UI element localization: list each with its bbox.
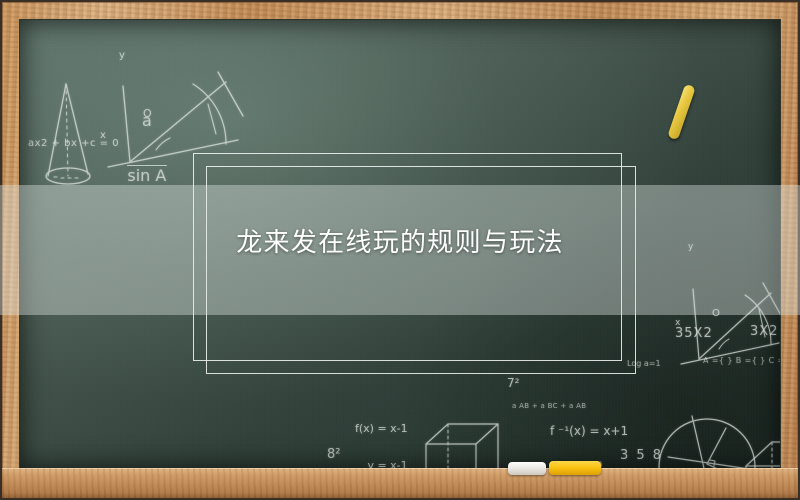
angle-label-o-topleft: O bbox=[143, 108, 152, 120]
white-chalk-icon bbox=[508, 462, 546, 475]
addition-problem-block: 3 5 8 2 7 9 6 3 7 bbox=[620, 420, 663, 468]
inverse-function-text: f ⁻¹(x) = x+1 bbox=[550, 425, 628, 438]
multiplication-3x2-text: 3X2 bbox=[750, 325, 778, 340]
axis-label-y-topleft: y bbox=[119, 50, 125, 61]
set-notation-text: A ={ } B ={ } C ={ } bbox=[703, 357, 780, 366]
cube-drawing-right-icon bbox=[738, 398, 780, 468]
function-equation-line1: f(x) = x-1 bbox=[355, 423, 408, 435]
yellow-chalk-icon bbox=[549, 461, 601, 475]
angle-label-o-right: O bbox=[712, 308, 720, 319]
axis-label-x-topleft: x bbox=[100, 130, 106, 141]
ledge-grain-texture bbox=[2, 468, 798, 498]
power-eight-squared-text: 8² bbox=[327, 448, 340, 463]
power-seven-squared-text: 7² bbox=[507, 377, 519, 390]
screenshot-root: a sin A ax2 + bx +c = 0 y x O bbox=[0, 0, 800, 500]
fraction-a-over-sina-bottomleft: a sin A bbox=[375, 441, 433, 468]
multiplication-35x2-text: 35X2 bbox=[675, 327, 713, 342]
addition-addend-top: 3 5 8 bbox=[620, 449, 663, 464]
decorative-chalk-frame-inner bbox=[206, 166, 636, 374]
page-title: 龙来发在线玩的规则与玩法 bbox=[236, 222, 564, 259]
chalk-ledge bbox=[2, 468, 798, 498]
sum-expression-text: a AB + a BC + a AB bbox=[512, 403, 586, 411]
page-title-container: 龙来发在线玩的规则与玩法 bbox=[0, 222, 800, 259]
